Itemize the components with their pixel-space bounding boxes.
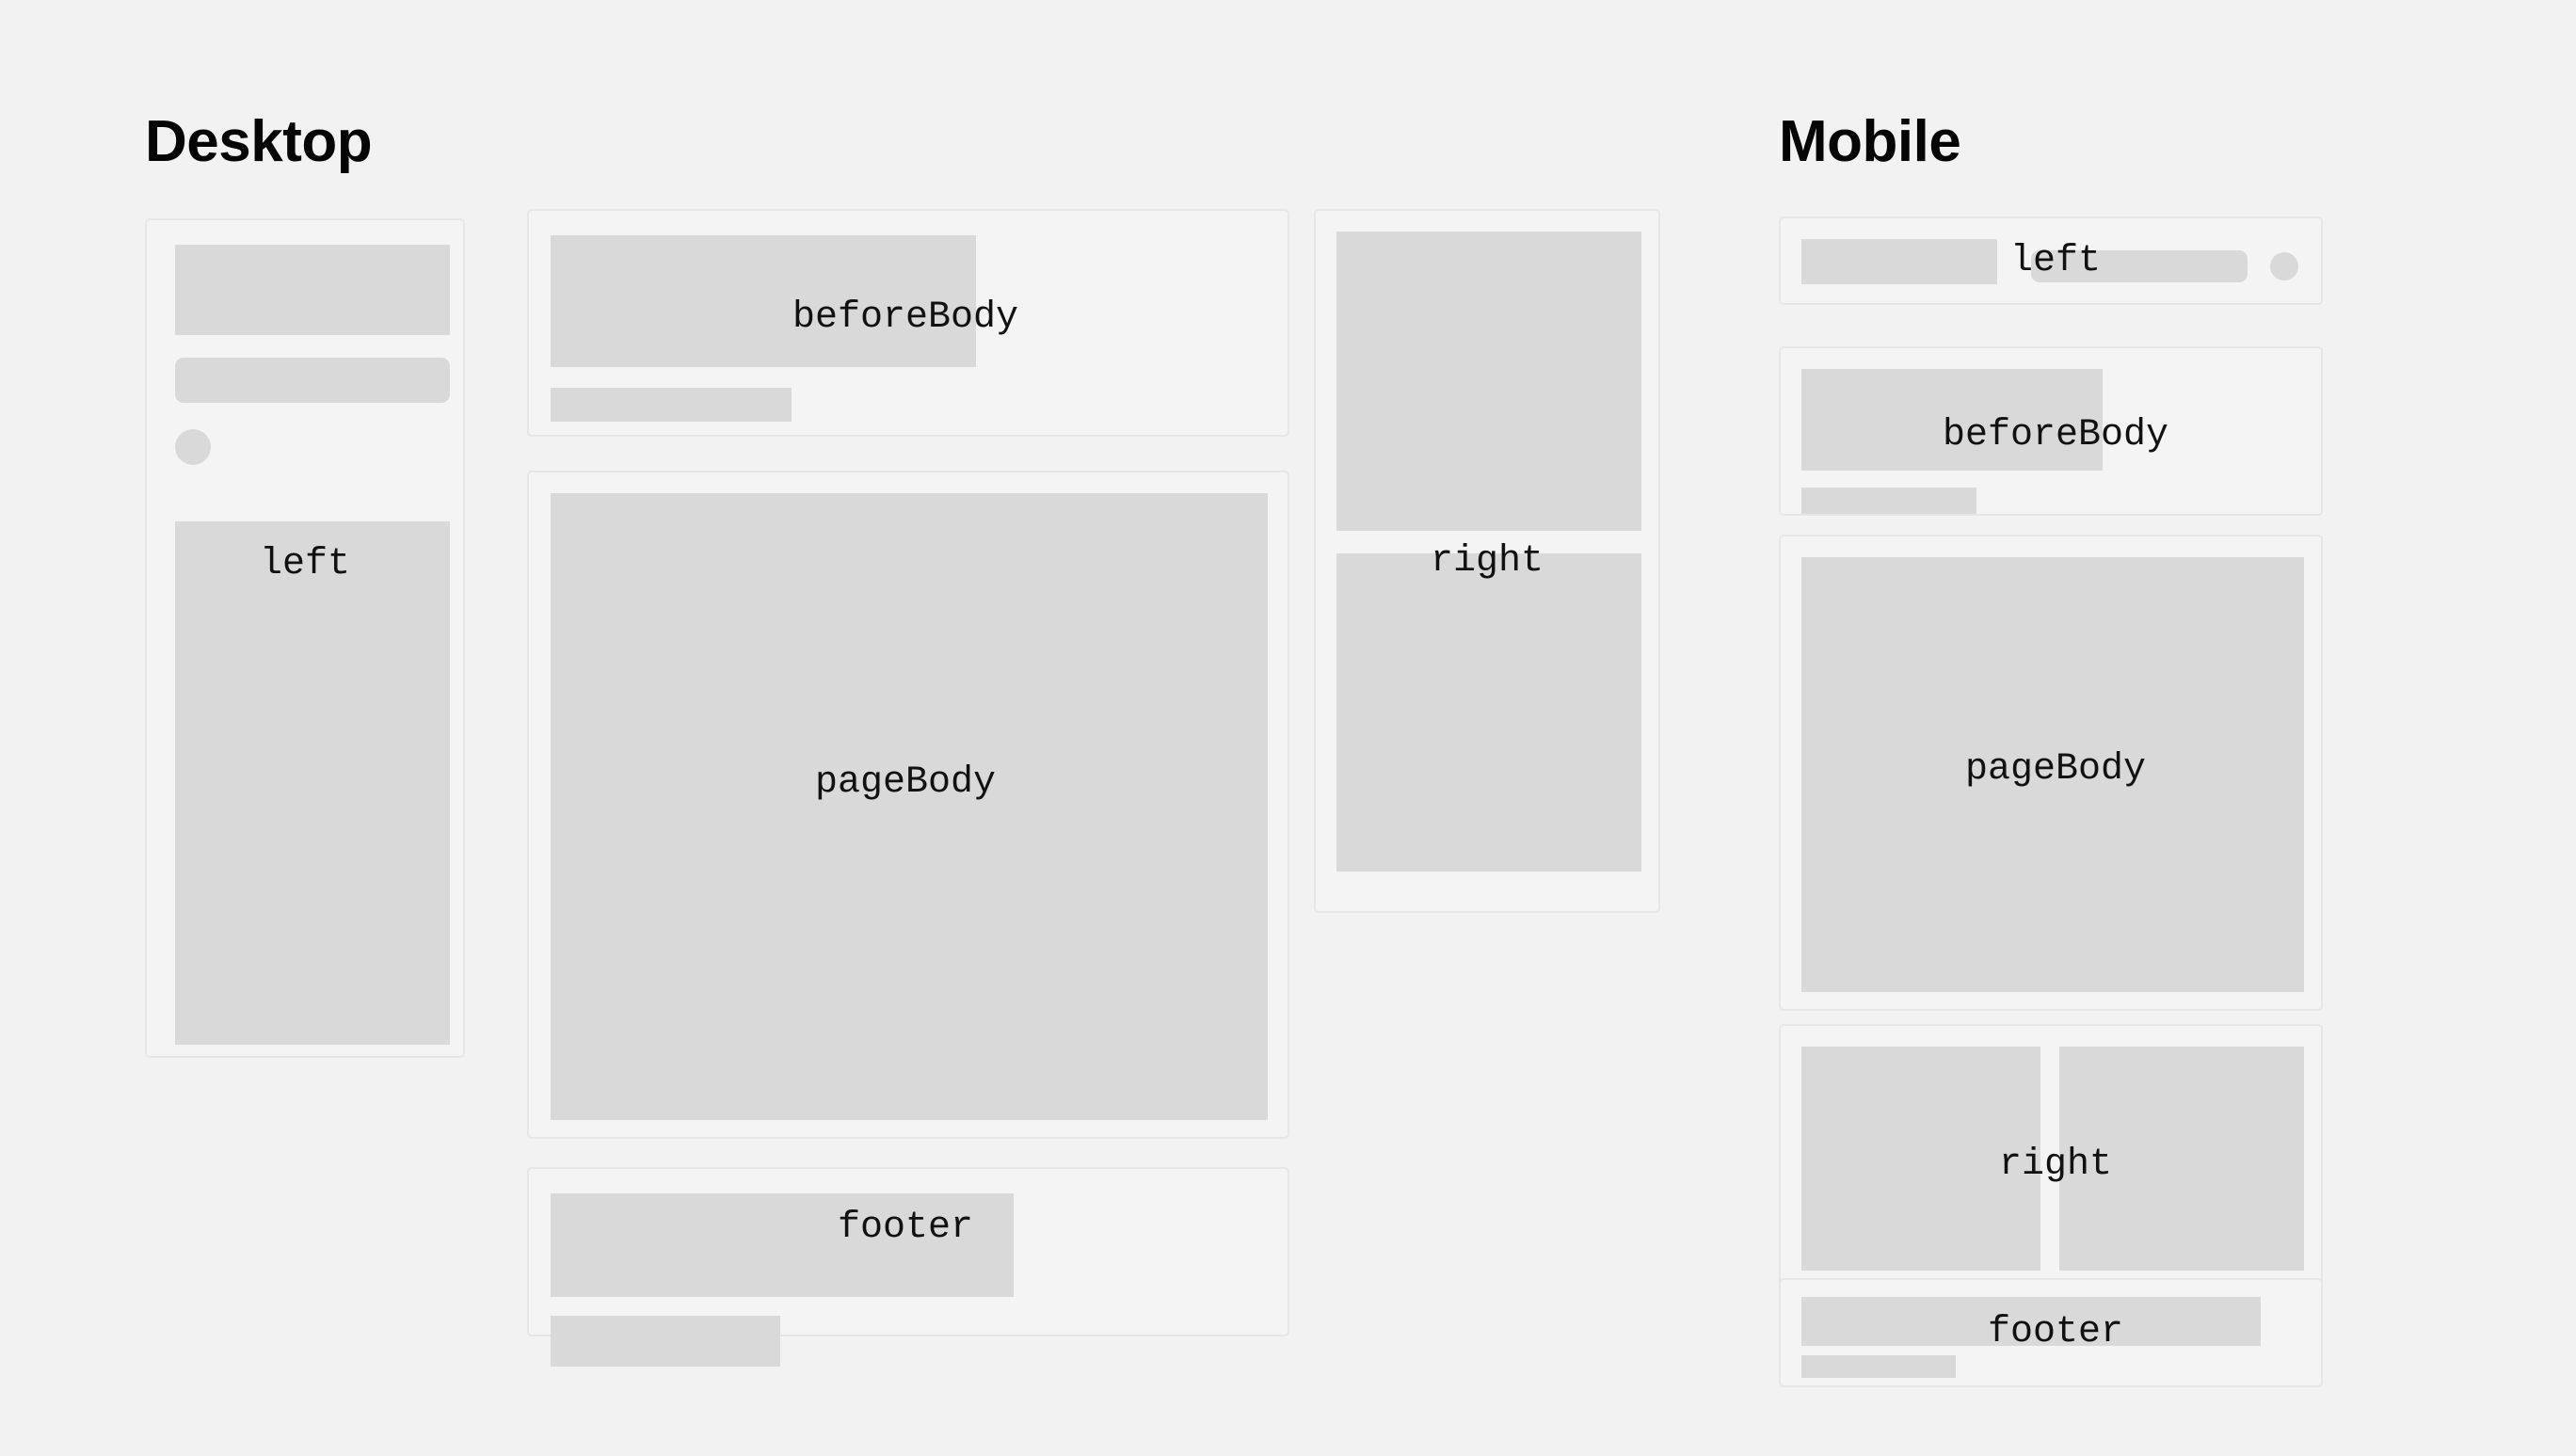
placeholder-block xyxy=(2059,1047,2304,1271)
page-title-mobile: Mobile xyxy=(1779,113,1960,171)
mobile-left-panel[interactable] xyxy=(1779,216,2323,305)
placeholder-block xyxy=(1801,1297,2261,1346)
placeholder-block xyxy=(1801,1047,2040,1271)
desktop-right-rail-panel[interactable] xyxy=(1314,209,1660,913)
placeholder-bar xyxy=(2031,250,2248,282)
placeholder-bar xyxy=(551,1316,780,1367)
desktop-page-body-panel[interactable] xyxy=(527,471,1289,1139)
placeholder-block xyxy=(1801,369,2103,471)
placeholder-block xyxy=(1336,232,1641,531)
placeholder-block xyxy=(1336,553,1641,872)
mobile-before-body-panel[interactable] xyxy=(1779,346,2323,516)
placeholder-bar xyxy=(551,388,792,422)
placeholder-block xyxy=(551,235,976,367)
mobile-footer-panel[interactable] xyxy=(1779,1278,2323,1387)
placeholder-block-large xyxy=(551,493,1268,1120)
desktop-before-body-panel[interactable] xyxy=(527,209,1289,437)
placeholder-block xyxy=(175,245,450,335)
placeholder-block xyxy=(551,1193,1014,1297)
placeholder-avatar-circle xyxy=(175,429,211,465)
placeholder-block xyxy=(1801,239,1997,284)
placeholder-avatar-circle xyxy=(2270,252,2298,280)
placeholder-bar xyxy=(1801,488,1976,514)
page-title-desktop: Desktop xyxy=(145,113,372,171)
placeholder-bar xyxy=(1801,1355,1956,1378)
mobile-right-panel[interactable] xyxy=(1779,1024,2323,1289)
mobile-page-body-panel[interactable] xyxy=(1779,535,2323,1011)
desktop-footer-panel[interactable] xyxy=(527,1167,1289,1336)
placeholder-bar xyxy=(175,358,450,403)
desktop-left-sidebar-panel[interactable] xyxy=(145,218,465,1058)
placeholder-block-large xyxy=(1801,557,2304,992)
placeholder-block-tall xyxy=(175,521,450,1045)
